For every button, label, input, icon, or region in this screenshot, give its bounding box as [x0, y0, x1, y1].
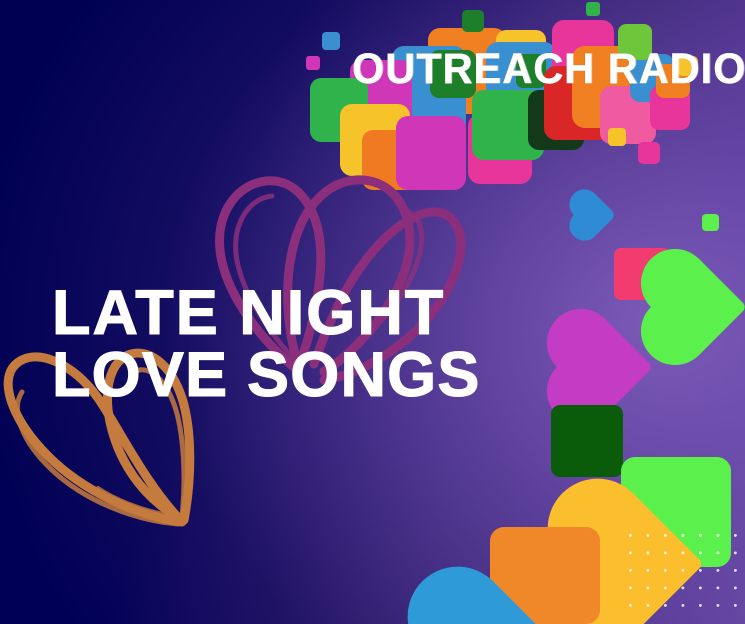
title-line-1: LATE NIGHT: [52, 282, 472, 344]
poster-title: LATE NIGHT LOVE SONGS: [52, 282, 472, 406]
dot-grid-pattern: [629, 534, 737, 618]
magenta-heart: [557, 319, 653, 415]
dark-green-square: [551, 405, 623, 477]
green-square-small: [702, 214, 719, 231]
green-heart: [651, 259, 745, 355]
poster-canvas: OUTREACH RADIO LATE NIGHT LOVE SONGS: [0, 0, 745, 624]
blue-heart-small: [573, 193, 615, 235]
title-line-2: LOVE SONGS: [52, 344, 472, 406]
